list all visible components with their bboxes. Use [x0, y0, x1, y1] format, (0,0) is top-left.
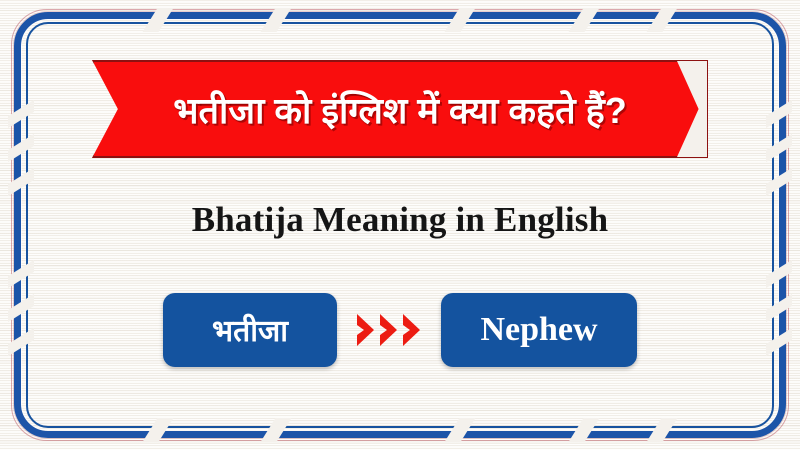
- frame-notch-bottom-5: [647, 418, 678, 442]
- question-banner: भतीजा को इंग्लिश में क्या कहते हैं?: [92, 60, 708, 158]
- banner-question-text: भतीजा को इंग्लिश में क्या कहते हैं?: [92, 60, 708, 158]
- frame-notch-top-2: [261, 8, 292, 32]
- chevron-right-icon-2: [379, 313, 399, 347]
- translation-row: भतीजा Nephew: [0, 293, 800, 367]
- frame-notch-top-4: [569, 8, 600, 32]
- triple-chevron-right-icon: [337, 293, 441, 367]
- subtitle-text: Bhatija Meaning in English: [0, 200, 800, 240]
- frame-notch-left-3: [8, 168, 34, 196]
- frame-notch-top-3: [445, 8, 476, 32]
- frame-notch-right-2: [766, 134, 792, 162]
- frame-notch-bottom-2: [261, 418, 292, 442]
- chevron-right-icon-3: [402, 313, 422, 347]
- target-word-label: Nephew: [480, 311, 597, 349]
- source-word-label: भतीजा: [212, 309, 288, 350]
- frame-notch-top-1: [143, 8, 174, 32]
- chevron-right-icon-1: [356, 313, 376, 347]
- frame-notch-left-2: [8, 134, 34, 162]
- frame-notch-left-1: [8, 100, 34, 128]
- frame-notch-right-3: [766, 168, 792, 196]
- frame-notch-bottom-4: [569, 418, 600, 442]
- frame-notch-top-5: [647, 8, 678, 32]
- frame-notch-left-4: [8, 260, 34, 288]
- frame-notch-right-4: [766, 260, 792, 288]
- source-word-chip: भतीजा: [163, 293, 337, 367]
- frame-notch-bottom-3: [445, 418, 476, 442]
- target-word-chip: Nephew: [441, 293, 637, 367]
- poster-canvas: भतीजा को इंग्लिश में क्या कहते हैं? Bhat…: [0, 0, 800, 450]
- frame-notch-bottom-1: [143, 418, 174, 442]
- frame-notch-right-1: [766, 100, 792, 128]
